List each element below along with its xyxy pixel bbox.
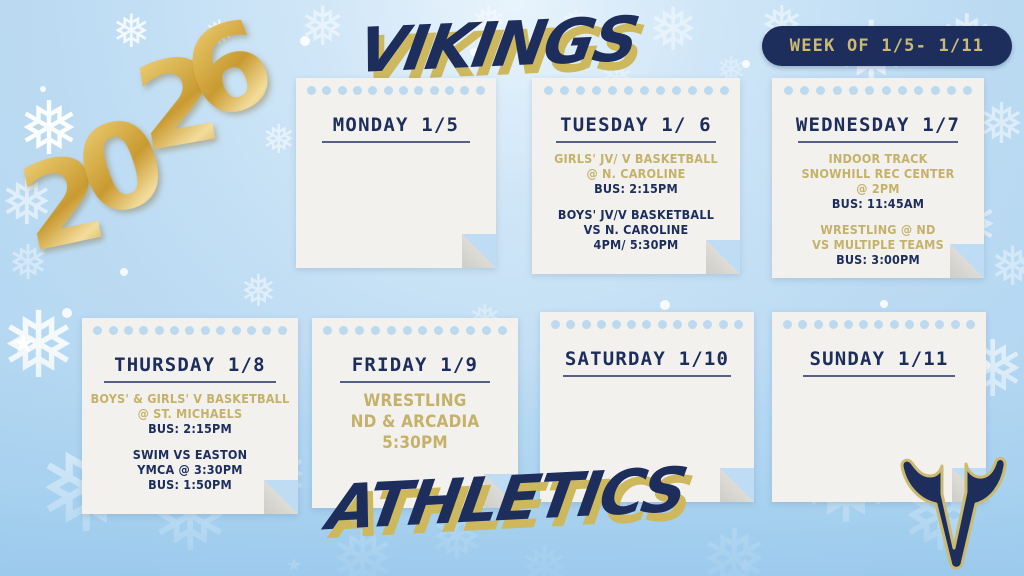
punch-hole-icon <box>658 320 667 329</box>
punch-hole-icon <box>656 86 665 95</box>
punch-hole-icon <box>688 320 697 329</box>
event-line: BUS: 11:45AM <box>832 196 924 211</box>
punch-hole-icon <box>232 326 241 335</box>
punch-hole-icon <box>476 86 485 95</box>
event-line: BOYS' JV/V BASKETBALL <box>558 207 714 222</box>
snowflake-icon: ❅ <box>240 270 277 314</box>
punch-hole-icon <box>322 86 331 95</box>
punch-hole-icon <box>608 86 617 95</box>
punch-hole-icon <box>139 326 148 335</box>
punch-hole-icon <box>734 320 743 329</box>
snow-dot <box>742 60 750 68</box>
punch-hole-icon <box>931 86 940 95</box>
week-badge: WEEK OF 1/5- 1/11 <box>762 26 1012 66</box>
punch-hole-icon <box>434 326 443 335</box>
event-line: WRESTLING <box>363 391 466 412</box>
punch-hole-icon <box>844 320 853 329</box>
event-list: BOYS' & GIRLS' V BASKETBALL@ ST. MICHAEL… <box>82 391 298 492</box>
punch-hole-icon <box>582 320 591 329</box>
page-fold-corner <box>264 480 298 514</box>
page-fold-corner <box>706 240 740 274</box>
page-fold-corner <box>950 244 984 278</box>
punch-hole-icon <box>403 326 412 335</box>
day-title: MONDAY 1/5 <box>333 114 459 136</box>
punch-hole-icon <box>859 320 868 329</box>
punch-hole-icon <box>882 86 891 95</box>
punch-hole-icon <box>814 320 823 329</box>
event-line: SWIM VS EASTON <box>133 447 247 462</box>
punch-hole-icon <box>816 86 825 95</box>
punch-hole-icon <box>624 86 633 95</box>
punch-hole-icon <box>170 326 179 335</box>
day-title-underline <box>322 141 470 143</box>
punch-hole-icon <box>935 320 944 329</box>
punch-hole-icon <box>703 320 712 329</box>
event-line: BUS: 2:15PM <box>594 181 678 196</box>
notebook-punch-holes <box>772 318 986 330</box>
event-line: BUS: 2:15PM <box>148 421 232 436</box>
punch-hole-icon <box>898 86 907 95</box>
punch-hole-icon <box>784 86 793 95</box>
page-fold-corner <box>720 468 754 502</box>
punch-hole-icon <box>704 86 713 95</box>
punch-hole-icon <box>597 320 606 329</box>
day-title-underline <box>803 375 955 377</box>
day-title-underline <box>340 381 490 383</box>
snowflake-icon: ❅ <box>990 240 1024 294</box>
punch-hole-icon <box>914 86 923 95</box>
day-title-underline <box>104 381 276 383</box>
event-line: GIRLS' JV/ V BASKETBALL <box>554 151 718 166</box>
punch-hole-icon <box>387 326 396 335</box>
punch-hole-icon <box>353 86 362 95</box>
punch-hole-icon <box>482 326 491 335</box>
punch-hole-icon <box>338 86 347 95</box>
punch-hole-icon <box>642 320 651 329</box>
day-card[interactable]: THURSDAY 1/8BOYS' & GIRLS' V BASKETBALL@… <box>82 318 298 514</box>
day-title: SATURDAY 1/10 <box>565 348 729 370</box>
punch-hole-icon <box>951 320 960 329</box>
snow-dot <box>62 308 72 318</box>
event-line: ND & ARCADIA <box>351 412 480 433</box>
page-fold-corner <box>462 234 496 268</box>
punch-hole-icon <box>430 86 439 95</box>
punch-hole-icon <box>800 86 809 95</box>
event-line: @ 2PM <box>856 181 899 196</box>
schedule-graphic: ❅❅❅❅❅❅❅❅❅❅❅❅❅❅❅❅❅❅❅❅❅❅❅❅❅❅❅❅❅❅❅❅❅★★★★ 2 … <box>0 0 1024 576</box>
event-line: @ ST. MICHAELS <box>138 406 243 421</box>
day-card[interactable]: WEDNESDAY 1/7INDOOR TRACKSNOWHILL REC CE… <box>772 78 984 278</box>
vikings-wordmark: VIKINGS VIKINGS <box>353 2 643 87</box>
punch-hole-icon <box>368 86 377 95</box>
day-title-underline <box>563 375 731 377</box>
punch-hole-icon <box>874 320 883 329</box>
event-line: WRESTLING @ ND <box>820 222 935 237</box>
event-entry[interactable]: INDOOR TRACKSNOWHILL REC CENTER@ 2PMBUS:… <box>802 151 955 211</box>
day-card[interactable]: MONDAY 1/5 <box>296 78 496 268</box>
punch-hole-icon <box>719 320 728 329</box>
event-entry[interactable]: GIRLS' JV/ V BASKETBALL@ N. CAROLINEBUS:… <box>554 151 718 196</box>
punch-hole-icon <box>865 86 874 95</box>
event-list: WRESTLINGND & ARCADIA5:30PM <box>312 391 518 454</box>
punch-hole-icon <box>216 326 225 335</box>
punch-hole-icon <box>829 320 838 329</box>
notebook-punch-holes <box>540 318 754 330</box>
notebook-punch-holes <box>532 84 740 96</box>
event-line: VS N. CAROLINE <box>584 222 689 237</box>
punch-hole-icon <box>592 86 601 95</box>
punch-hole-icon <box>124 326 133 335</box>
snowflake-icon: ❅ <box>978 96 1024 152</box>
day-title: SUNDAY 1/11 <box>809 348 948 370</box>
punch-hole-icon <box>720 86 729 95</box>
punch-hole-icon <box>201 326 210 335</box>
event-line: @ N. CAROLINE <box>587 166 686 181</box>
notebook-punch-holes <box>296 84 496 96</box>
punch-hole-icon <box>93 326 102 335</box>
punch-hole-icon <box>612 320 621 329</box>
punch-hole-icon <box>371 326 380 335</box>
punch-hole-icon <box>460 86 469 95</box>
event-entry[interactable]: WRESTLINGND & ARCADIA5:30PM <box>351 391 480 454</box>
event-line: BUS: 1:50PM <box>148 477 232 492</box>
punch-hole-icon <box>783 320 792 329</box>
day-title: TUESDAY 1/ 6 <box>560 114 712 136</box>
punch-hole-icon <box>339 326 348 335</box>
punch-hole-icon <box>576 86 585 95</box>
punch-hole-icon <box>920 320 929 329</box>
notebook-punch-holes <box>312 324 518 336</box>
punch-hole-icon <box>384 86 393 95</box>
week-badge-label: WEEK OF 1/5- 1/11 <box>790 36 984 56</box>
day-title: THURSDAY 1/8 <box>114 354 266 376</box>
event-line: BOYS' & GIRLS' V BASKETBALL <box>91 391 290 406</box>
punch-hole-icon <box>627 320 636 329</box>
snow-dot <box>880 300 888 308</box>
event-entry[interactable]: BOYS' & GIRLS' V BASKETBALL@ ST. MICHAEL… <box>91 391 290 436</box>
event-line: 5:30PM <box>382 433 448 454</box>
event-line: INDOOR TRACK <box>828 151 927 166</box>
punch-hole-icon <box>672 86 681 95</box>
punch-hole-icon <box>833 86 842 95</box>
snow-dot <box>300 36 310 46</box>
punch-hole-icon <box>798 320 807 329</box>
punch-hole-icon <box>450 326 459 335</box>
snow-dot <box>660 300 670 310</box>
punch-hole-icon <box>355 326 364 335</box>
punch-hole-icon <box>890 320 899 329</box>
punch-hole-icon <box>673 320 682 329</box>
punch-hole-icon <box>445 86 454 95</box>
event-line: BUS: 3:00PM <box>836 252 920 267</box>
punch-hole-icon <box>418 326 427 335</box>
day-title: FRIDAY 1/9 <box>352 354 478 376</box>
punch-hole-icon <box>688 86 697 95</box>
snow-dot <box>120 268 128 276</box>
event-entry[interactable]: BOYS' JV/V BASKETBALLVS N. CAROLINE4PM/ … <box>558 207 714 252</box>
punch-hole-icon <box>278 326 287 335</box>
punch-hole-icon <box>247 326 256 335</box>
punch-hole-icon <box>566 320 575 329</box>
punch-hole-icon <box>109 326 118 335</box>
notebook-punch-holes <box>82 324 298 336</box>
event-line: YMCA @ 3:30PM <box>137 462 242 477</box>
snowflake-icon: ❅ <box>300 0 345 54</box>
day-title-underline <box>556 141 716 143</box>
punch-hole-icon <box>905 320 914 329</box>
snowflake-icon: ❅ <box>648 0 698 60</box>
punch-hole-icon <box>262 326 271 335</box>
vikings-wordmark-text: VIKINGS <box>353 2 643 87</box>
event-list: GIRLS' JV/ V BASKETBALL@ N. CAROLINEBUS:… <box>532 151 740 252</box>
punch-hole-icon <box>966 320 975 329</box>
event-line: SNOWHILL REC CENTER <box>802 166 955 181</box>
punch-hole-icon <box>323 326 332 335</box>
punch-hole-icon <box>185 326 194 335</box>
punch-hole-icon <box>551 320 560 329</box>
punch-hole-icon <box>640 86 649 95</box>
event-entry[interactable]: SWIM VS EASTONYMCA @ 3:30PMBUS: 1:50PM <box>133 447 247 492</box>
punch-hole-icon <box>544 86 553 95</box>
punch-hole-icon <box>498 326 507 335</box>
punch-hole-icon <box>155 326 164 335</box>
event-line: 4PM/ 5:30PM <box>594 237 679 252</box>
notebook-punch-holes <box>772 84 984 96</box>
viking-v-logo <box>892 452 1012 570</box>
punch-hole-icon <box>947 86 956 95</box>
punch-hole-icon <box>963 86 972 95</box>
day-title: WEDNESDAY 1/7 <box>796 114 960 136</box>
punch-hole-icon <box>849 86 858 95</box>
punch-hole-icon <box>560 86 569 95</box>
punch-hole-icon <box>307 86 316 95</box>
punch-hole-icon <box>414 86 423 95</box>
punch-hole-icon <box>399 86 408 95</box>
day-card[interactable]: TUESDAY 1/ 6GIRLS' JV/ V BASKETBALL@ N. … <box>532 78 740 274</box>
event-line: VS MULTIPLE TEAMS <box>812 237 944 252</box>
day-title-underline <box>798 141 958 143</box>
punch-hole-icon <box>466 326 475 335</box>
event-entry[interactable]: WRESTLING @ NDVS MULTIPLE TEAMSBUS: 3:00… <box>812 222 944 267</box>
